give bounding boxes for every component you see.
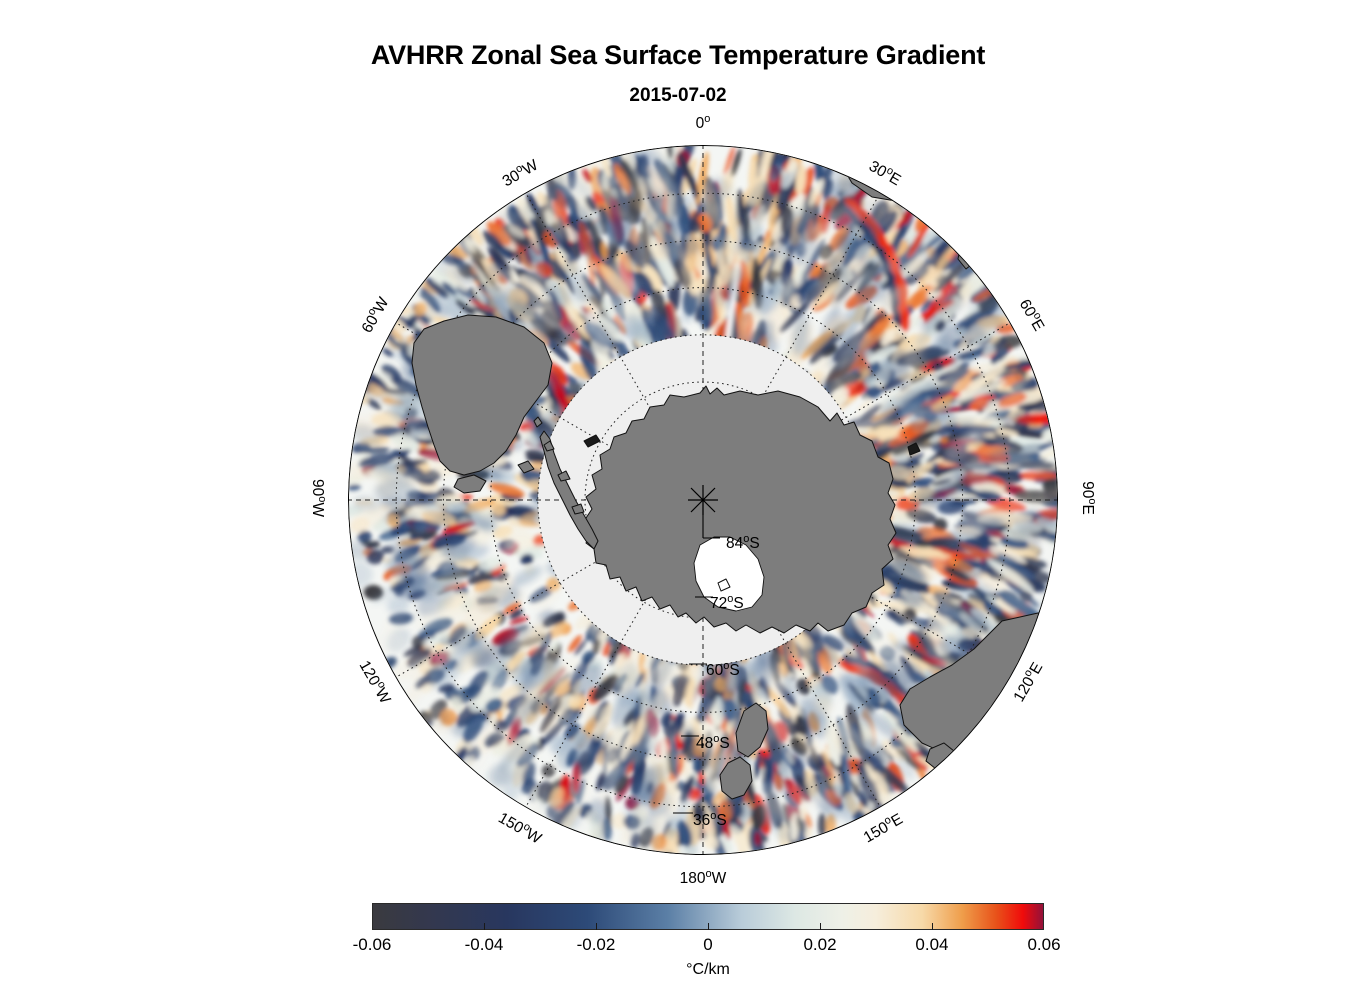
colorbar-tick-label: 0.06 [999,935,1089,955]
longitude-label: 0o [696,113,711,133]
colorbar-tick [932,923,933,930]
figure-subtitle: 2015-07-02 [0,85,1356,107]
colorbar: -0.06-0.04-0.0200.020.040.06 °C/km [372,903,1044,935]
colorbar-tick-label: 0.02 [775,935,865,955]
colorbar-tick [596,923,597,930]
longitude-label: 90oE [1078,481,1098,515]
colorbar-tick [820,923,821,930]
colorbar-tick-label: -0.02 [551,935,641,955]
polar-map: 0o30oE60oE90oE120oE150oE180oW150oW120oW9… [348,145,1058,855]
colorbar-unit-label: °C/km [372,961,1044,979]
colorbar-tick [708,923,709,930]
longitude-label: 90oW [308,479,328,517]
colorbar-tick [484,923,485,930]
pole-star-icon [688,485,718,515]
pole-marker [348,145,1058,855]
page-title: AVHRR Zonal Sea Surface Temperature Grad… [0,40,1356,71]
colorbar-tick-label: 0 [663,935,753,955]
figure-canvas: AVHRR Zonal Sea Surface Temperature Grad… [0,0,1356,1000]
colorbar-tick-label: -0.06 [327,935,417,955]
colorbar-tick-label: -0.04 [439,935,529,955]
longitude-label: 180oW [680,868,727,888]
colorbar-tick-label: 0.04 [887,935,977,955]
